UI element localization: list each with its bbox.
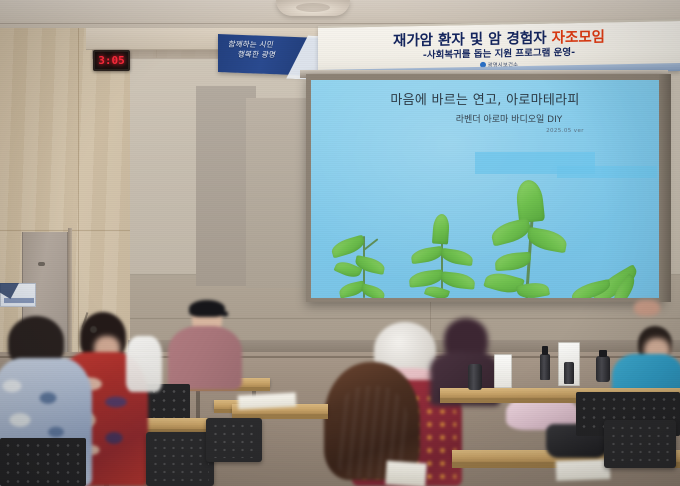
wall-poster-text: [4, 298, 34, 303]
clock-time-display: 3:05: [98, 55, 125, 66]
handout-paper: [385, 461, 427, 486]
slide-title: 마음에 바르는 연고, 아로마테라피: [311, 89, 659, 108]
handout-paper: [556, 459, 611, 481]
chair: [604, 420, 676, 468]
banner-subtitle: -사회복귀를 돕는 지원 프로그램 운영-: [423, 47, 575, 62]
bottle-pump-cap: [542, 346, 548, 355]
banner-title-blue: 재가암 환자 및 암 경험자: [393, 30, 547, 49]
city-slogan-line1: 함께하는 시민: [228, 40, 306, 51]
door-handle-icon[interactable]: [38, 262, 45, 266]
aroma-oil-bottle: [468, 364, 482, 390]
chair: [146, 432, 214, 486]
bottle-pump-cap: [599, 350, 607, 357]
screen-side-shadow: [659, 74, 671, 302]
mic-head-icon: [90, 326, 97, 333]
chair: [206, 418, 262, 462]
panel-seam: [78, 28, 79, 358]
plastic-bag: [126, 336, 162, 392]
plant-seedling-center-left: [407, 206, 485, 298]
attendee-cap-man: [168, 300, 242, 390]
banner-title-red: 자조모임: [552, 29, 605, 46]
wall-recess-panel: [246, 98, 310, 288]
ceiling-light-diffuser: [296, 3, 330, 12]
aroma-oil-bottle: [596, 356, 610, 382]
slide-subtitle: 라벤더 아로마 바디오일 DIY: [311, 112, 659, 125]
aroma-oil-bottle: [540, 354, 550, 380]
product-box: [494, 354, 512, 388]
raised-hand: [634, 300, 660, 316]
city-slogan-text: 함께하는 시민 행복한 광명: [228, 40, 306, 61]
projection-screen: 마음에 바르는 연고, 아로마테라피 라벤더 아로마 바디오일 DIY 2025…: [311, 80, 659, 298]
lecture-room-photo: 3:05 함께하는 시민 행복한 광명 재가암 환자 및 암 경험자 자조모임 …: [0, 0, 680, 486]
storage-crate: [0, 438, 86, 486]
slide-date: 2025.05 ver: [311, 128, 659, 134]
plant-seedling-left: [333, 214, 409, 298]
city-slogan-line2: 행복한 광명: [228, 50, 306, 61]
led-wall-clock: 3:05: [93, 50, 130, 71]
aroma-oil-bottle: [564, 362, 574, 384]
plant-grass-blade-right: [563, 222, 647, 298]
